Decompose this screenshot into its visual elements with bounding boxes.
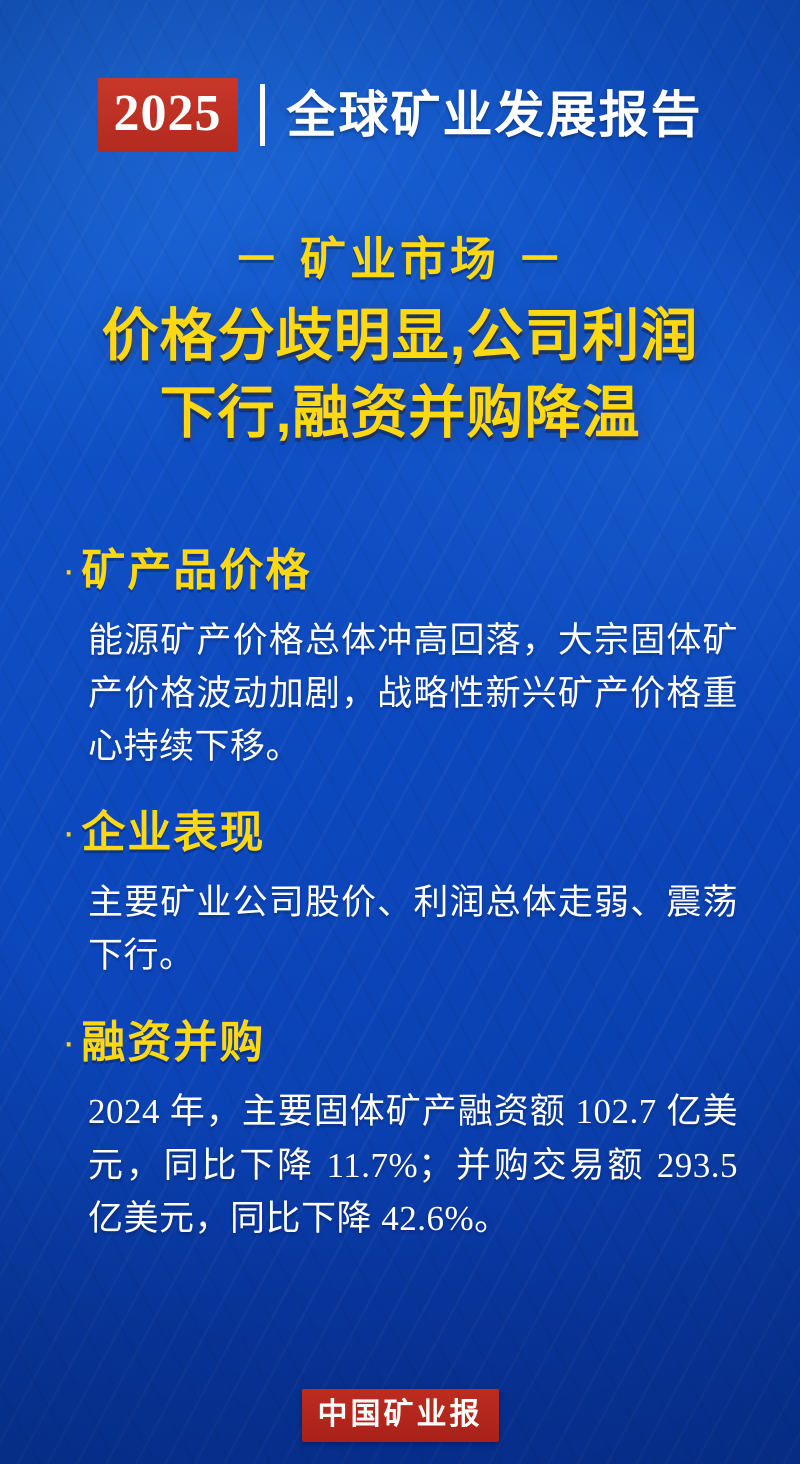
section-title: 企业表现 bbox=[81, 807, 265, 860]
section-company-performance: · 企业表现 主要矿业公司股价、利润总体走弱、震荡下行。 bbox=[0, 807, 800, 982]
headline-main: 价格分歧明显,公司利润 下行,融资并购降温 bbox=[0, 298, 800, 451]
bullet-dot-icon: · bbox=[62, 550, 75, 590]
report-header: 2025 全球矿业发展报告 bbox=[0, 78, 800, 152]
section-mineral-prices: · 矿产品价格 能源矿产价格总体冲高回落，大宗固体矿产价格波动加剧，战略性新兴矿… bbox=[0, 545, 800, 773]
bullet-dot-icon: · bbox=[62, 1022, 75, 1062]
section-body: 能源矿产价格总体冲高回落，大宗固体矿产价格波动加剧，战略性新兴矿产价格重心持续下… bbox=[0, 614, 800, 774]
headline-kicker: － 矿业市场 － bbox=[0, 232, 800, 286]
section-header: · 企业表现 bbox=[0, 807, 800, 860]
sections-list: · 矿产品价格 能源矿产价格总体冲高回落，大宗固体矿产价格波动加剧，战略性新兴矿… bbox=[0, 545, 800, 1279]
section-header: · 矿产品价格 bbox=[0, 545, 800, 598]
headline-line-2: 下行,融资并购降温 bbox=[0, 375, 800, 451]
bullet-dot-icon: · bbox=[62, 812, 75, 852]
year-badge: 2025 bbox=[98, 78, 238, 152]
section-financing-ma: · 融资并购 2024 年，主要固体矿产融资额 102.7 亿美元，同比下降 1… bbox=[0, 1017, 800, 1245]
section-title: 矿产品价格 bbox=[81, 545, 311, 598]
headline-line-1: 价格分歧明显,公司利润 bbox=[0, 298, 800, 374]
footer: 中国矿业报 bbox=[0, 1389, 800, 1442]
headline-block: － 矿业市场 － 价格分歧明显,公司利润 下行,融资并购降温 bbox=[0, 232, 800, 451]
poster-root: 2025 全球矿业发展报告 － 矿业市场 － 价格分歧明显,公司利润 下行,融资… bbox=[0, 0, 800, 1464]
section-title: 融资并购 bbox=[81, 1017, 265, 1070]
publisher-logo-text: 中国矿业报 bbox=[318, 1398, 483, 1431]
header-divider bbox=[260, 84, 265, 146]
section-body: 主要矿业公司股价、利润总体走弱、震荡下行。 bbox=[0, 876, 800, 982]
section-body: 2024 年，主要固体矿产融资额 102.7 亿美元，同比下降 11.7%；并购… bbox=[0, 1085, 800, 1245]
report-title: 全球矿业发展报告 bbox=[287, 90, 703, 140]
section-header: · 融资并购 bbox=[0, 1017, 800, 1070]
publisher-logo: 中国矿业报 bbox=[302, 1389, 499, 1442]
